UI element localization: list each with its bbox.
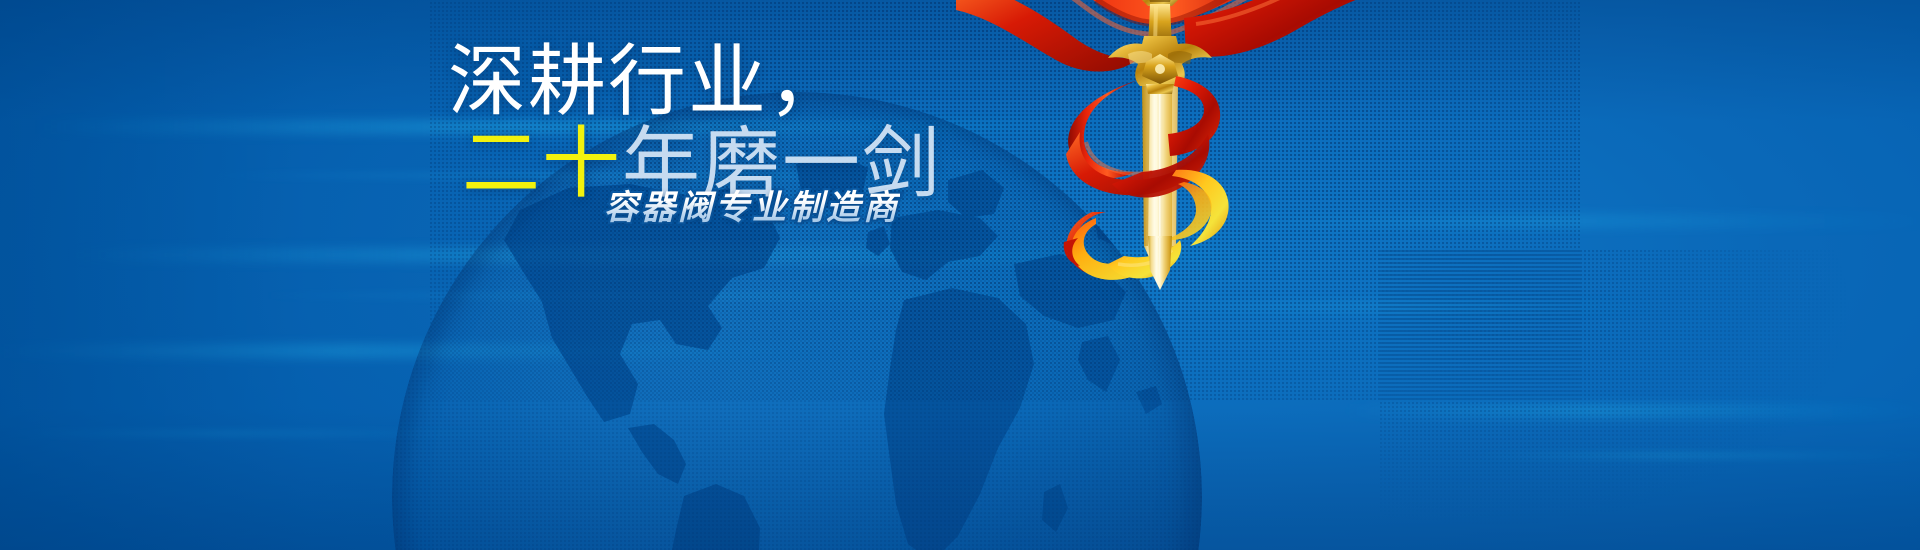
headline-highlight: 二十 (462, 119, 622, 207)
hero-banner: 深耕行业， 二十年磨一剑 容器阀专业制造商 容器阀专业制造商 (0, 0, 1920, 550)
subtitle: 容器阀专业制造商 (604, 180, 900, 229)
sword-blade-tip (1148, 236, 1172, 290)
headline-line-1: 深耕行业， (448, 42, 1088, 120)
headline-block: 深耕行业， 二十年磨一剑 (448, 42, 1088, 202)
